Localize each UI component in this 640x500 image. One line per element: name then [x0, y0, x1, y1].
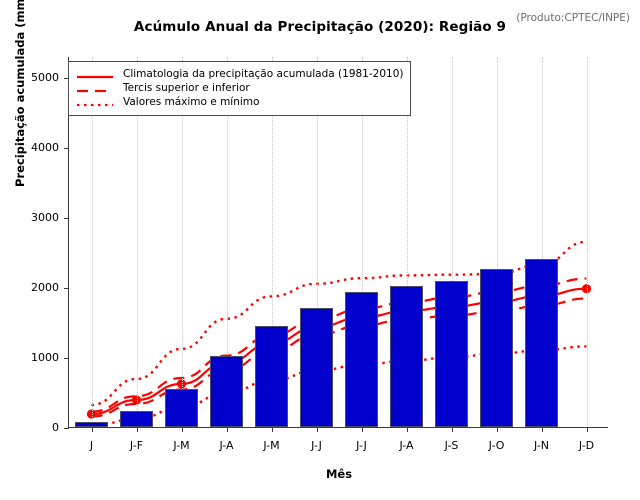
legend-item: Valores máximo e mínimo: [75, 95, 404, 109]
y-axis-label: 2000: [7, 281, 59, 294]
precipitation-chart: Acúmulo Anual da Precipitação (2020): Re…: [0, 0, 640, 500]
x-axis-tick: [497, 427, 498, 432]
y-axis-tick: [64, 428, 69, 429]
x-axis-tick: [362, 427, 363, 432]
bar: [120, 411, 152, 427]
grid-line-vertical: [587, 57, 589, 427]
y-axis-label: 0: [7, 421, 59, 434]
y-axis-label: 3000: [7, 211, 59, 224]
legend-label: Climatologia da precipitação acumulada (…: [123, 68, 403, 80]
legend-item: Climatologia da precipitação acumulada (…: [75, 67, 404, 81]
dotted-line-icon: [75, 96, 115, 108]
source-note: (Produto:CPTEC/INPE): [516, 12, 630, 24]
x-axis-tick: [407, 427, 408, 432]
y-axis-label: 1000: [7, 351, 59, 364]
legend-label: Valores máximo e mínimo: [123, 96, 259, 108]
x-axis-tick: [92, 427, 93, 432]
x-axis-tick: [587, 427, 588, 432]
y-axis-label: 5000: [7, 71, 59, 84]
x-axis-tick: [452, 427, 453, 432]
x-axis-tick: [272, 427, 273, 432]
chart-legend: Climatologia da precipitação acumulada (…: [68, 61, 411, 116]
solid-line-icon: [75, 68, 115, 80]
x-axis-label: J-D: [557, 439, 617, 452]
x-axis-tick: [542, 427, 543, 432]
bar: [345, 292, 377, 427]
bar: [525, 259, 557, 427]
bar: [390, 286, 422, 427]
bar: [165, 389, 197, 427]
bar: [300, 308, 332, 427]
legend-label: Tercis superior e inferior: [123, 82, 250, 94]
bar: [435, 281, 467, 427]
bar: [480, 269, 512, 427]
y-axis-tick: [64, 358, 69, 359]
bar: [255, 326, 287, 428]
y-axis-tick: [64, 148, 69, 149]
legend-item: Tercis superior e inferior: [75, 81, 404, 95]
x-axis-tick: [182, 427, 183, 432]
dashed-line-icon: [75, 82, 115, 94]
y-axis-title: Precipitação acumulada (mm): [13, 0, 27, 187]
bar: [210, 356, 242, 427]
bar: [75, 422, 107, 427]
y-axis-tick: [64, 288, 69, 289]
y-axis-label: 4000: [7, 141, 59, 154]
x-axis-tick: [137, 427, 138, 432]
x-axis-tick: [317, 427, 318, 432]
x-axis-title: Mês: [69, 467, 609, 481]
y-axis-tick: [64, 218, 69, 219]
x-axis-tick: [227, 427, 228, 432]
